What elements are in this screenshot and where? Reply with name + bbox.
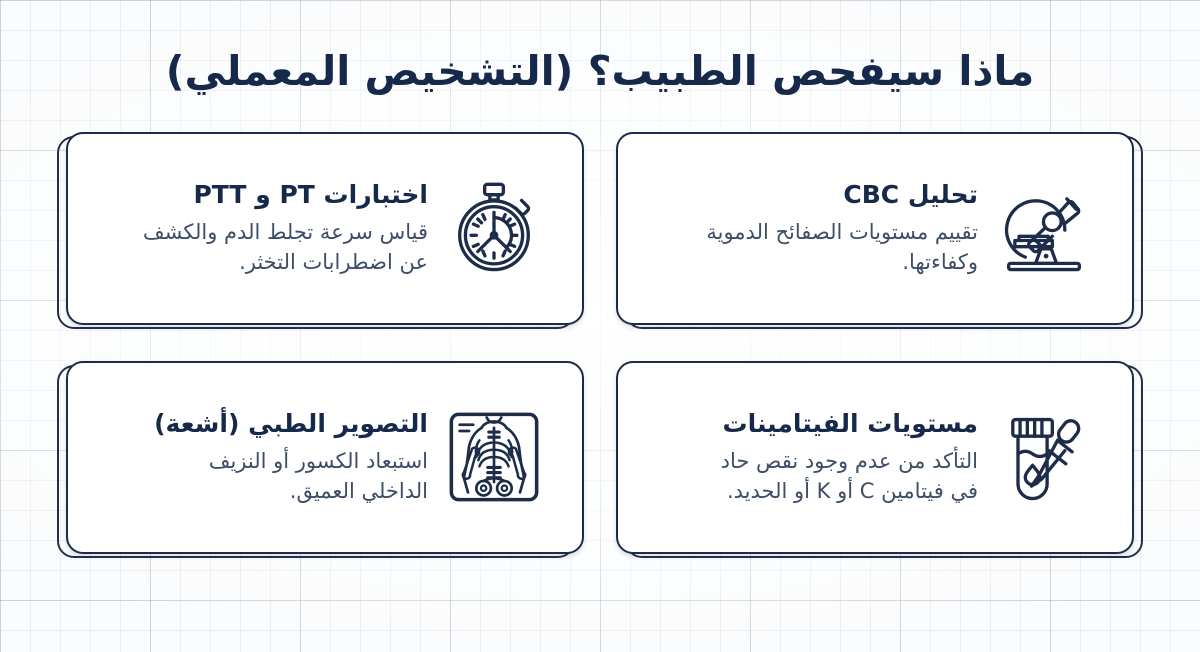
infographic-page: ماذا سيفحص الطبيب؟ (التشخيص المعملي) <box>0 0 1200 652</box>
microscope-icon <box>992 176 1096 280</box>
card-text-vitamin-levels: مستويات الفيتامينات التأكد من عدم وجود ن… <box>644 408 992 507</box>
test-tube-dropper-icon <box>992 405 1096 509</box>
title-container: ماذا سيفحص الطبيب؟ (التشخيص المعملي) <box>70 46 1130 98</box>
card-slot-cbc: تحليل CBC تقييم مستويات الصفائح الدموية … <box>616 132 1134 325</box>
card-text-pt-ptt: اختبارات PT و PTT قياس سرعة تجلط الدم وا… <box>94 179 442 278</box>
stopwatch-icon <box>442 176 546 280</box>
card-heading: مستويات الفيتامينات <box>722 408 978 439</box>
card-pt-ptt[interactable]: اختبارات PT و PTT قياس سرعة تجلط الدم وا… <box>66 132 584 325</box>
card-grid: تحليل CBC تقييم مستويات الصفائح الدموية … <box>66 132 1134 554</box>
card-text-medical-imaging: التصوير الطبي (أشعة) استبعاد الكسور أو ا… <box>94 408 442 507</box>
page-title: ماذا سيفحص الطبيب؟ (التشخيص المعملي) <box>70 46 1130 98</box>
card-heading: تحليل CBC <box>843 179 978 210</box>
card-description: استبعاد الكسور أو النزيف الداخلي العميق. <box>138 447 428 507</box>
card-heading: التصوير الطبي (أشعة) <box>154 408 428 439</box>
card-slot-vitamin-levels: مستويات الفيتامينات التأكد من عدم وجود ن… <box>616 361 1134 554</box>
card-medical-imaging[interactable]: التصوير الطبي (أشعة) استبعاد الكسور أو ا… <box>66 361 584 554</box>
card-text-cbc: تحليل CBC تقييم مستويات الصفائح الدموية … <box>644 179 992 278</box>
xray-icon <box>442 405 546 509</box>
card-description: التأكد من عدم وجود نقص حاد في فيتامين C … <box>688 447 978 507</box>
card-slot-medical-imaging: التصوير الطبي (أشعة) استبعاد الكسور أو ا… <box>66 361 584 554</box>
card-slot-pt-ptt: اختبارات PT و PTT قياس سرعة تجلط الدم وا… <box>66 132 584 325</box>
card-vitamin-levels[interactable]: مستويات الفيتامينات التأكد من عدم وجود ن… <box>616 361 1134 554</box>
card-heading: اختبارات PT و PTT <box>193 179 428 210</box>
card-description: قياس سرعة تجلط الدم والكشف عن اضطرابات ا… <box>138 218 428 278</box>
card-description: تقييم مستويات الصفائح الدموية وكفاءتها. <box>688 218 978 278</box>
card-cbc[interactable]: تحليل CBC تقييم مستويات الصفائح الدموية … <box>616 132 1134 325</box>
